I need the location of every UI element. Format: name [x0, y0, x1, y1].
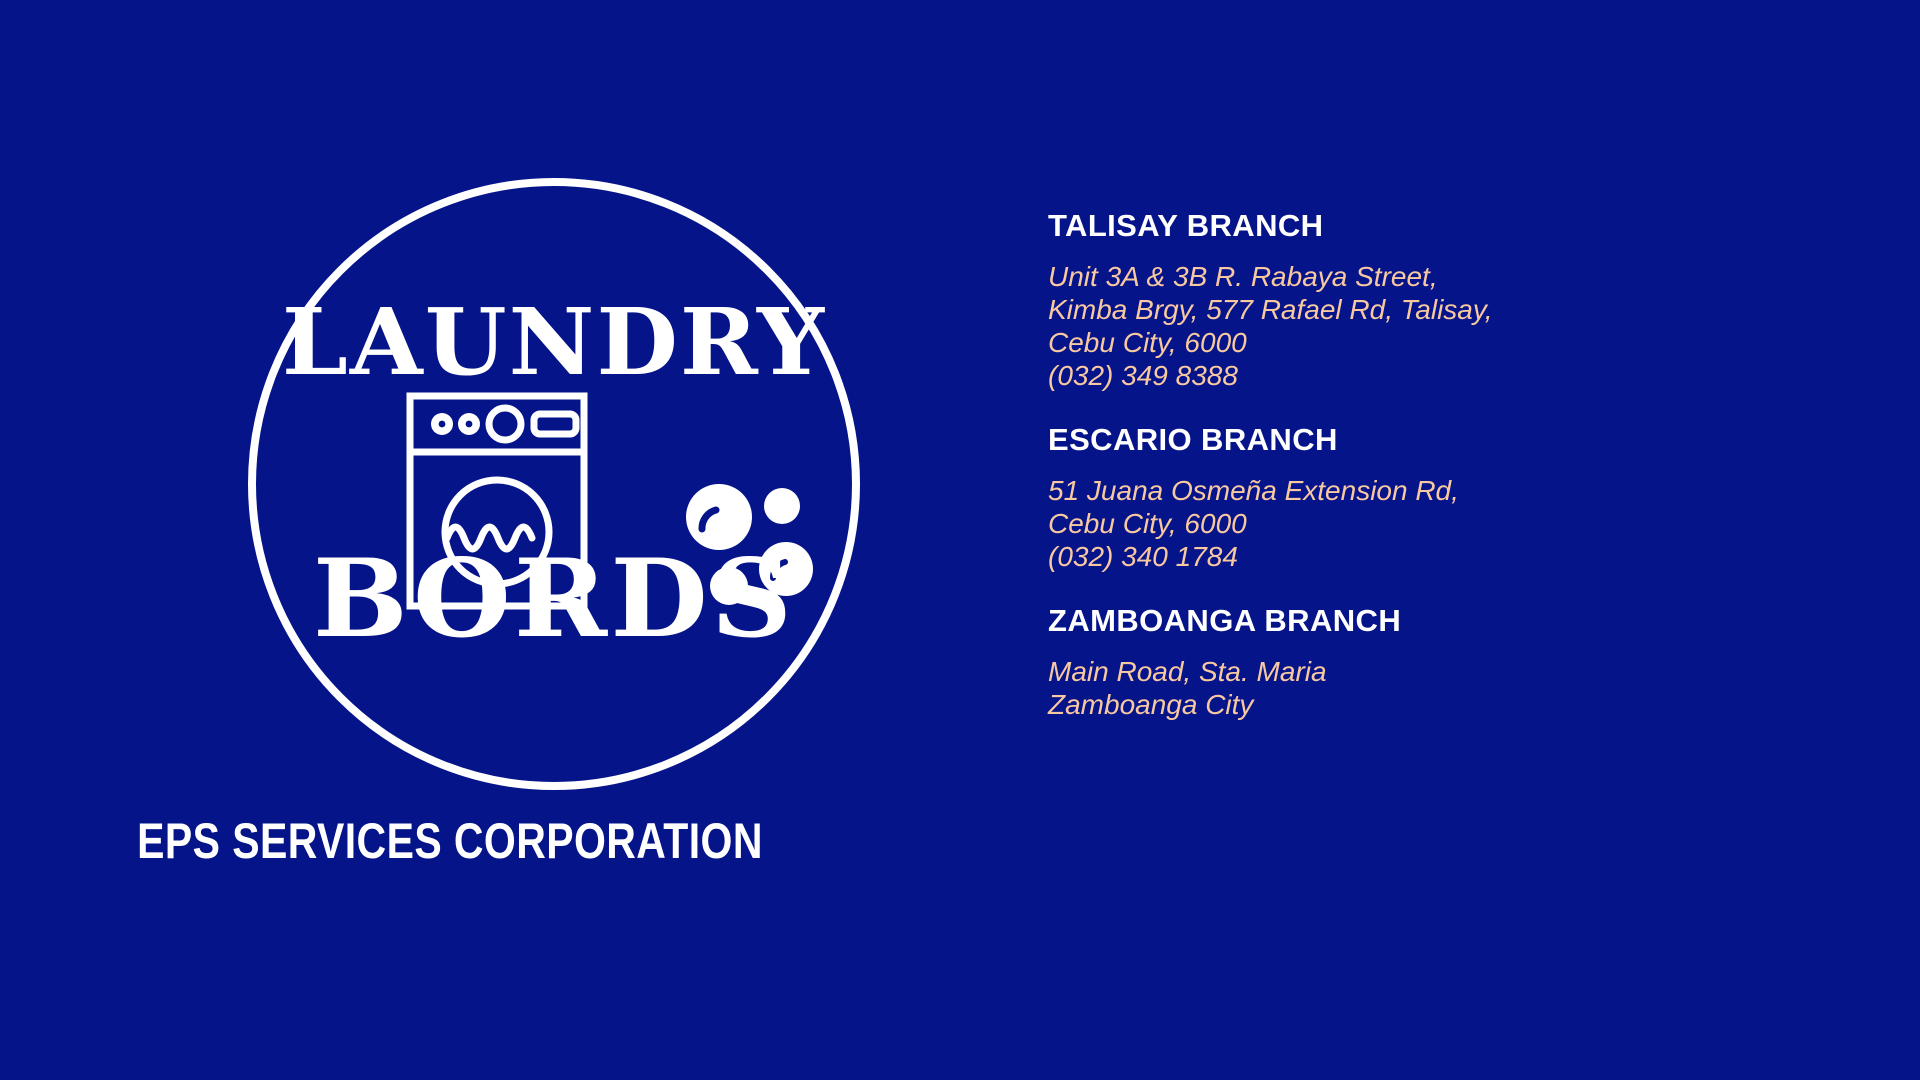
address-line: Unit 3A & 3B R. Rabaya Street,: [1048, 260, 1808, 293]
logo-word-laundry: LAUNDRY: [242, 300, 866, 385]
branch-zamboanga: ZAMBOANGA BRANCH Main Road, Sta. Maria Z…: [1048, 603, 1808, 721]
branch-talisay: TALISAY BRANCH Unit 3A & 3B R. Rabaya St…: [1048, 208, 1808, 392]
company-name: EPS SERVICES CORPORATION: [81, 812, 819, 870]
branch-title: ZAMBOANGA BRANCH: [1048, 603, 1808, 639]
logo-emblem: LAUNDRY: [248, 178, 860, 790]
branch-address: 51 Juana Osmeña Extension Rd, Cebu City,…: [1048, 474, 1808, 573]
branch-phone: (032) 349 8388: [1048, 359, 1808, 392]
address-line: 51 Juana Osmeña Extension Rd,: [1048, 474, 1808, 507]
branch-title: TALISAY BRANCH: [1048, 208, 1808, 244]
branch-address: Main Road, Sta. Maria Zamboanga City: [1048, 655, 1808, 721]
address-line: Cebu City, 6000: [1048, 507, 1808, 540]
branch-phone: (032) 340 1784: [1048, 540, 1808, 573]
branch-escario: ESCARIO BRANCH 51 Juana Osmeña Extension…: [1048, 422, 1808, 573]
branch-address: Unit 3A & 3B R. Rabaya Street, Kimba Brg…: [1048, 260, 1808, 392]
branch-title: ESCARIO BRANCH: [1048, 422, 1808, 458]
address-line: Main Road, Sta. Maria: [1048, 655, 1808, 688]
address-line: Kimba Brgy, 577 Rafael Rd, Talisay,: [1048, 293, 1808, 326]
address-line: Zamboanga City: [1048, 688, 1808, 721]
branch-directory: TALISAY BRANCH Unit 3A & 3B R. Rabaya St…: [1048, 208, 1808, 721]
address-line: Cebu City, 6000: [1048, 326, 1808, 359]
logo-lockup: LAUNDRY: [0, 0, 900, 1080]
business-card-canvas: LAUNDRY: [0, 0, 1920, 1080]
logo-word-bords: BORDS: [236, 550, 872, 649]
